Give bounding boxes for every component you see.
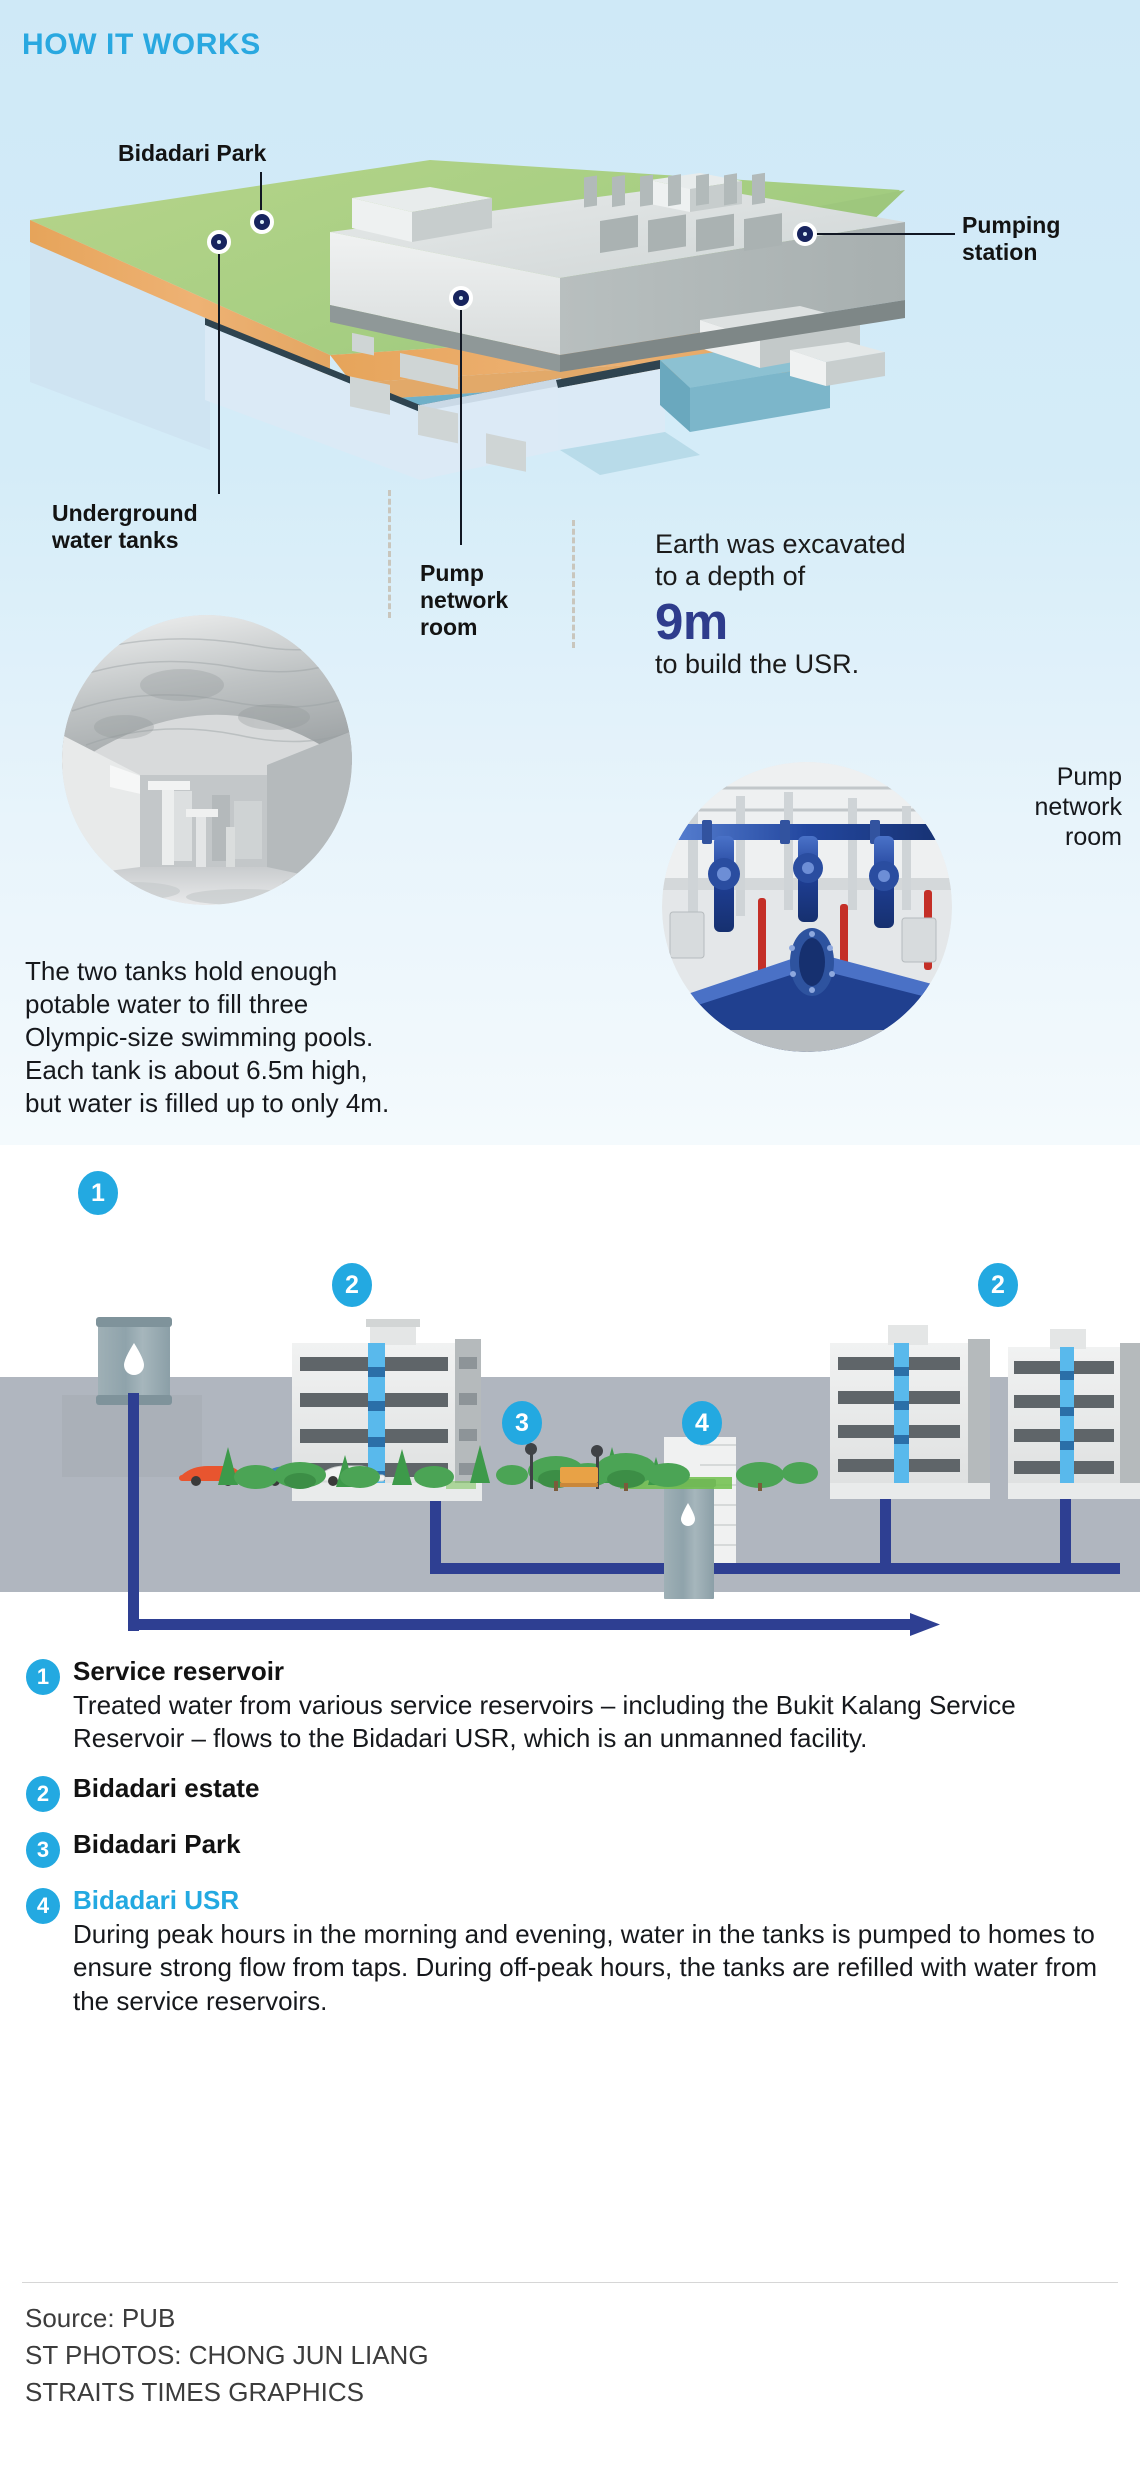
water-tanks-line2: water tanks bbox=[52, 527, 179, 553]
pumping-station-line1: Pumping bbox=[962, 212, 1060, 238]
label-pumping-station: Pumping station bbox=[962, 212, 1060, 266]
legend-body-4: During peak hours in the morning and eve… bbox=[73, 1918, 1114, 2019]
pump-caption-line3: room bbox=[962, 822, 1122, 852]
schematic-graphics bbox=[0, 1145, 1140, 1655]
caption-line-1: The two tanks hold enough bbox=[25, 955, 389, 988]
water-flow-schematic: 1 2 3 4 2 bbox=[0, 1145, 1140, 1655]
legend-title-4: Bidadari USR bbox=[73, 1884, 1114, 1917]
stat-depth-value: 9m bbox=[655, 595, 906, 649]
tank-photo-caption: The two tanks hold enough potable water … bbox=[25, 955, 389, 1120]
legend-item-1: 1 Service reservoir Treated water from v… bbox=[26, 1655, 1114, 1756]
how-it-works-panel: HOW IT WORKS bbox=[0, 0, 1140, 1145]
legend-item-3: 3 Bidadari Park bbox=[26, 1828, 1114, 1868]
footer-source: Source: PUB bbox=[25, 2300, 429, 2337]
water-tanks-line1: Underground bbox=[52, 500, 198, 526]
pump-room-photo-caption: Pump network room bbox=[962, 762, 1122, 852]
underground-tank-photo bbox=[62, 615, 352, 905]
legend-body-1: Treated water from various service reser… bbox=[73, 1689, 1114, 1757]
pump-room-line2: network bbox=[420, 587, 508, 613]
leader-park bbox=[260, 172, 262, 212]
leader-water-tanks bbox=[218, 254, 220, 494]
leader-pumping-station bbox=[815, 233, 955, 235]
stat-line-1: Earth was excavated bbox=[655, 528, 906, 560]
stat-line-3: to build the USR. bbox=[655, 648, 906, 680]
legend-title-2: Bidadari estate bbox=[73, 1772, 1114, 1805]
leader-pump-room bbox=[460, 310, 462, 545]
legend-number-2: 2 bbox=[26, 1776, 60, 1812]
legend-number-1: 1 bbox=[26, 1659, 60, 1695]
usr-cutaway-illustration bbox=[0, 150, 1140, 510]
stat-line-2: to a depth of bbox=[655, 560, 906, 592]
schematic-badge-2-right: 2 bbox=[978, 1263, 1018, 1307]
divider-dash-right bbox=[572, 520, 575, 648]
caption-line-4: Each tank is about 6.5m high, bbox=[25, 1054, 389, 1087]
pump-network-room-photo bbox=[662, 762, 952, 1052]
legend-item-2: 2 Bidadari estate bbox=[26, 1772, 1114, 1812]
legend-item-4: 4 Bidadari USR During peak hours in the … bbox=[26, 1884, 1114, 2019]
label-pump-network-room: Pump network room bbox=[420, 560, 508, 641]
schematic-badge-4: 4 bbox=[682, 1401, 722, 1445]
schematic-badge-1: 1 bbox=[78, 1171, 118, 1215]
footer-graphics-credit: STRAITS TIMES GRAPHICS bbox=[25, 2374, 429, 2411]
caption-line-5: but water is filled up to only 4m. bbox=[25, 1087, 389, 1120]
pump-room-line3: room bbox=[420, 614, 478, 640]
label-bidadari-park: Bidadari Park bbox=[118, 140, 266, 167]
schematic-badge-3: 3 bbox=[502, 1401, 542, 1445]
caption-line-3: Olympic-size swimming pools. bbox=[25, 1021, 389, 1054]
pump-caption-line2: network bbox=[962, 792, 1122, 822]
pump-caption-line1: Pump bbox=[962, 762, 1122, 792]
footer-photo-credit: ST PHOTOS: CHONG JUN LIANG bbox=[25, 2337, 429, 2374]
legend-number-4: 4 bbox=[26, 1888, 60, 1924]
pin-underground-water-tanks bbox=[207, 230, 231, 254]
legend-number-3: 3 bbox=[26, 1832, 60, 1868]
pumping-station-line2: station bbox=[962, 239, 1037, 265]
excavation-stat: Earth was excavated to a depth of 9m to … bbox=[655, 528, 906, 681]
pin-pumping-station bbox=[793, 222, 817, 246]
legend-title-3: Bidadari Park bbox=[73, 1828, 1114, 1861]
schematic-badge-2-left: 2 bbox=[332, 1263, 372, 1307]
legend-title-1: Service reservoir bbox=[73, 1655, 1114, 1688]
caption-line-2: potable water to fill three bbox=[25, 988, 389, 1021]
pin-pump-network-room bbox=[449, 286, 473, 310]
label-underground-water-tanks: Underground water tanks bbox=[52, 500, 198, 554]
footer-divider bbox=[22, 2282, 1118, 2283]
divider-dash-left bbox=[388, 490, 391, 618]
page-title: HOW IT WORKS bbox=[22, 28, 261, 62]
legend-list: 1 Service reservoir Treated water from v… bbox=[0, 1655, 1140, 2035]
pump-room-line1: Pump bbox=[420, 560, 484, 586]
footer-credits: Source: PUB ST PHOTOS: CHONG JUN LIANG S… bbox=[25, 2300, 429, 2411]
pin-bidadari-park bbox=[250, 210, 274, 234]
